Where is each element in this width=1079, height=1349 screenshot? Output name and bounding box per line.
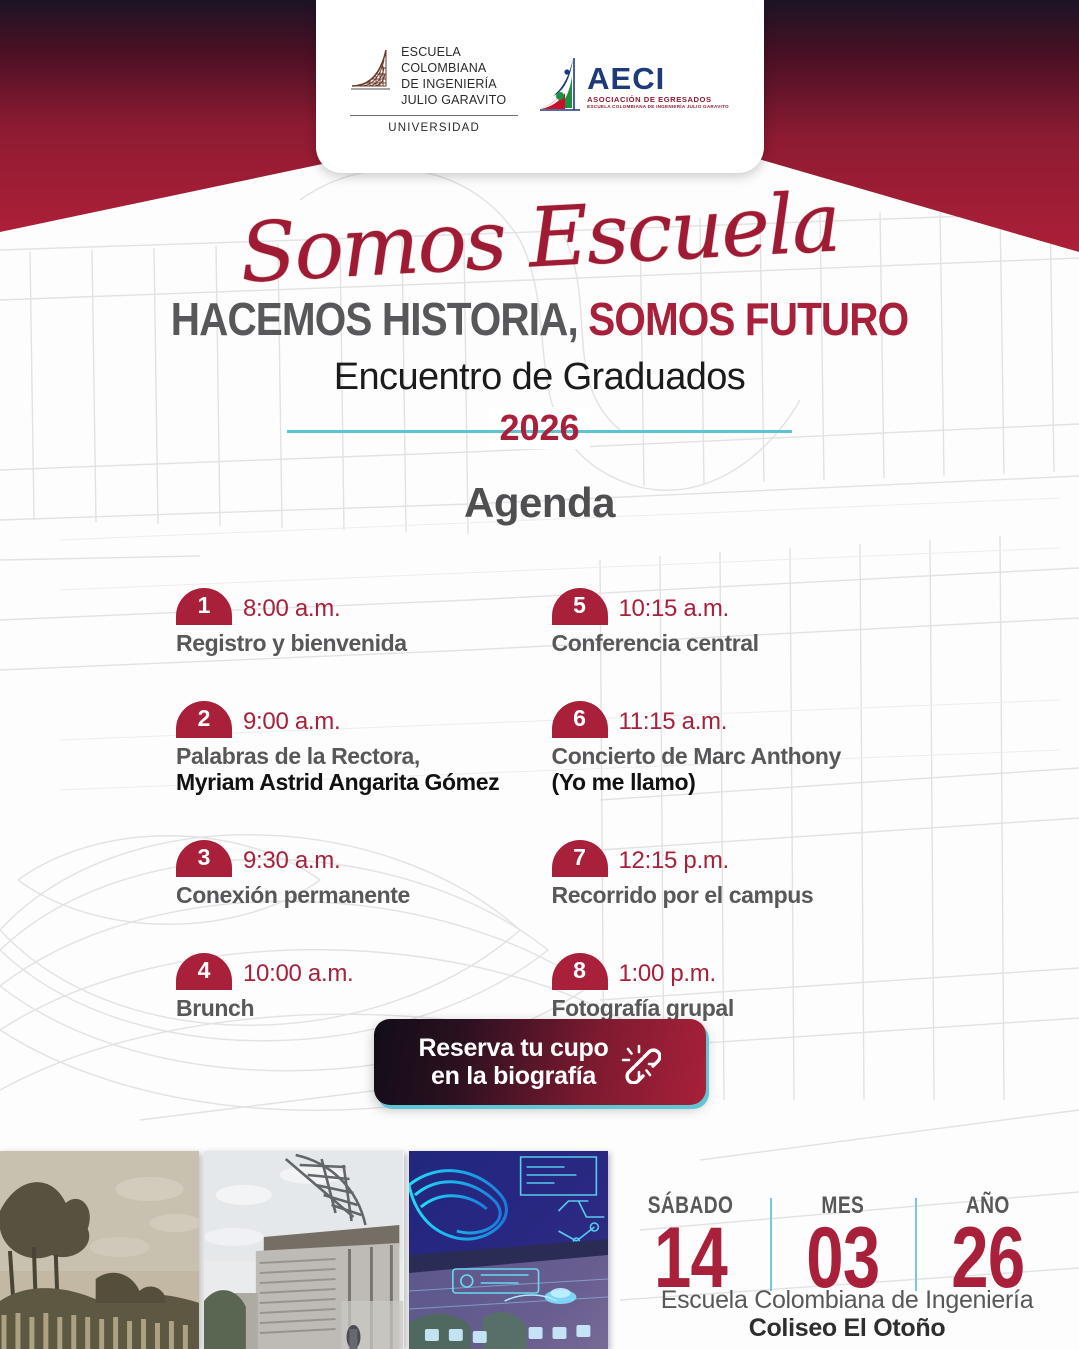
event-year: 2026 <box>489 407 589 449</box>
agenda-description: Concierto de Marc Anthony (Yo me llamo) <box>552 743 910 796</box>
agenda-number-badge: 1 <box>176 588 232 625</box>
agenda-item: 6 11:15 a.m. Concierto de Marc Anthony (… <box>552 701 910 796</box>
agenda-item: 5 10:15 a.m. Conferencia central <box>552 588 910 657</box>
agenda-column-right: 5 10:15 a.m. Conferencia central 6 11:15… <box>552 588 910 1065</box>
university-line-4: JULIO GARAVITO <box>401 92 506 108</box>
date-cell-month: MES 03 <box>770 1194 916 1297</box>
aeci-logo: AECI ASOCIACIÓN DE EGRESADOS ESCUELA COL… <box>536 56 729 118</box>
agenda-number-badge: 5 <box>552 588 608 625</box>
agenda-description: Conferencia central <box>552 630 910 657</box>
cta-line-1: Reserva tu cupo <box>418 1034 608 1062</box>
link-chain-icon <box>617 1040 661 1084</box>
photo-past-sepia <box>0 1151 199 1349</box>
logo-card: ESCUELA COLOMBIANA DE INGENIERÍA JULIO G… <box>316 0 764 173</box>
university-footer: UNIVERSIDAD <box>350 122 518 134</box>
agenda-time: 10:15 a.m. <box>619 597 729 625</box>
agenda-description: Recorrido por el campus <box>552 882 910 909</box>
photo-present-campus <box>204 1151 403 1349</box>
year-row: 2026 <box>0 407 1079 453</box>
divider <box>350 115 518 116</box>
agenda-time: 10:00 a.m. <box>243 962 353 990</box>
date-cell-year: AÑO 26 <box>915 1194 1061 1297</box>
date-cell-day: SÁBADO 14 <box>611 1194 770 1297</box>
university-line-3: DE INGENIERÍA <box>401 76 506 92</box>
eci-curve-mark <box>350 46 394 94</box>
agenda-description-highlight: (Yo me llamo) <box>552 769 910 796</box>
poster-root: ESCUELA COLOMBIANA DE INGENIERÍA JULIO G… <box>0 0 1079 1349</box>
venue-line-1: Escuela Colombiana de Ingeniería <box>637 1287 1057 1315</box>
aeci-acronym: AECI <box>587 63 729 94</box>
agenda-time: 9:00 a.m. <box>243 710 340 738</box>
photo-future-tech <box>409 1151 608 1349</box>
agenda-description: Brunch <box>176 995 534 1022</box>
agenda-description: Registro y bienvenida <box>176 630 534 657</box>
venue-block: Escuela Colombiana de Ingeniería Coliseo… <box>637 1287 1057 1343</box>
aeci-figure-mark <box>536 56 582 118</box>
agenda-number-badge: 6 <box>552 701 608 738</box>
agenda-number-badge: 2 <box>176 701 232 738</box>
tagline-gray: HACEMOS HISTORIA, <box>171 293 578 345</box>
agenda-description-highlight: Myriam Astrid Angarita Gómez <box>176 769 534 796</box>
agenda-time: 1:00 p.m. <box>619 962 716 990</box>
agenda-description-text: Concierto de Marc Anthony <box>552 743 841 769</box>
event-subtitle: Encuentro de Graduados <box>0 356 1079 399</box>
agenda-time: 8:00 a.m. <box>243 597 340 625</box>
agenda-description: Conexión permanente <box>176 882 534 909</box>
reserve-cta-button[interactable]: Reserva tu cupo en la biografía <box>374 1019 706 1105</box>
agenda-item: 4 10:00 a.m. Brunch <box>176 953 534 1022</box>
agenda-number-badge: 4 <box>176 953 232 990</box>
agenda-item: 8 1:00 p.m. Fotografía grupal <box>552 953 910 1022</box>
cta-label: Reserva tu cupo en la biografía <box>418 1034 608 1090</box>
agenda-time: 9:30 a.m. <box>243 849 340 877</box>
aeci-subtitle-2: ESCUELA COLOMBIANA DE INGENIERÍA JULIO G… <box>587 105 729 110</box>
university-line-1: ESCUELA <box>401 44 506 60</box>
tagline-red: SOMOS FUTURO <box>588 293 908 345</box>
venue-line-2: Coliseo El Otoño <box>637 1314 1057 1343</box>
university-line-2: COLOMBIANA <box>401 60 506 76</box>
tagline: HACEMOS HISTORIA, SOMOS FUTURO <box>65 296 1015 342</box>
university-logo: ESCUELA COLOMBIANA DE INGENIERÍA JULIO G… <box>350 40 518 134</box>
agenda-description: Fotografía grupal <box>552 995 910 1022</box>
agenda-time: 11:15 a.m. <box>619 710 728 738</box>
headline-block: Somos Escuela HACEMOS HISTORIA, SOMOS FU… <box>0 198 1079 527</box>
agenda-item: 7 12:15 p.m. Recorrido por el campus <box>552 840 910 909</box>
agenda-description-text: Palabras de la Rectora, <box>176 743 420 769</box>
aeci-subtitle: ASOCIACIÓN DE EGRESADOS <box>587 96 729 104</box>
agenda-number-badge: 3 <box>176 840 232 877</box>
cta-line-2: en la biografía <box>418 1062 608 1090</box>
agenda-time: 12:15 p.m. <box>619 849 729 877</box>
agenda-heading: Agenda <box>0 479 1079 527</box>
photo-strip <box>0 1151 608 1349</box>
agenda-item: 1 8:00 a.m. Registro y bienvenida <box>176 588 534 657</box>
agenda-item: 3 9:30 a.m. Conexión permanente <box>176 840 534 909</box>
event-date-block: SÁBADO 14 MES 03 AÑO 26 <box>611 1194 1061 1297</box>
agenda-grid: 1 8:00 a.m. Registro y bienvenida 2 9:00… <box>0 588 1079 1065</box>
agenda-item: 2 9:00 a.m. Palabras de la Rectora, Myri… <box>176 701 534 796</box>
agenda-number-badge: 7 <box>552 840 608 877</box>
agenda-number-badge: 8 <box>552 953 608 990</box>
agenda-description: Palabras de la Rectora, Myriam Astrid An… <box>176 743 534 796</box>
agenda-column-left: 1 8:00 a.m. Registro y bienvenida 2 9:00… <box>176 588 534 1065</box>
